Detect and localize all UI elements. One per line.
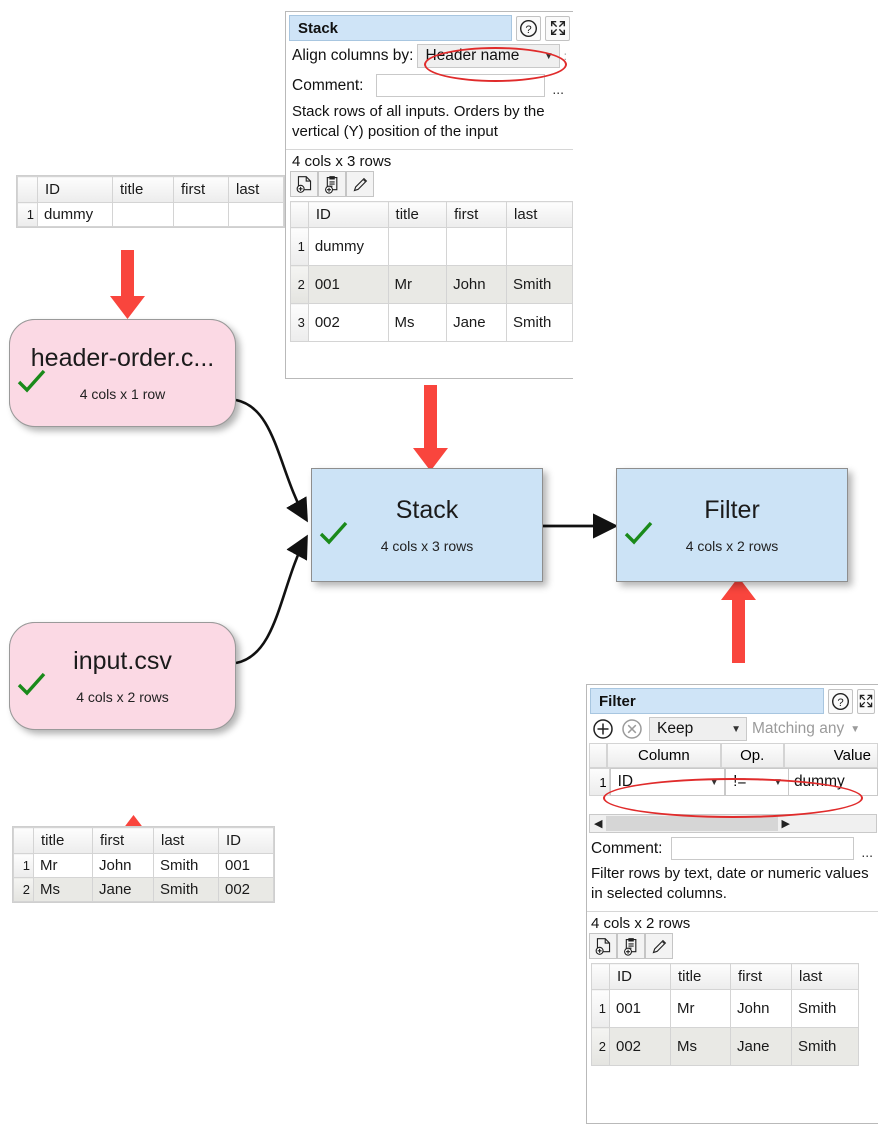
node-header-order-csv[interactable]: header-order.c... 4 cols x 1 row <box>9 319 236 427</box>
node-title: header-order.c... <box>31 346 214 371</box>
rules-empty-area <box>589 796 878 812</box>
col-header-1[interactable]: title <box>388 202 447 228</box>
panel-title: Filter <box>590 688 824 714</box>
filter-mode-select[interactable]: Keep ▼ <box>649 717 747 741</box>
filter-toolbar-icons <box>587 933 878 963</box>
status-ok-icon <box>17 369 47 395</box>
rule-op-value: != <box>733 773 746 791</box>
col-header-3[interactable]: ID <box>219 828 274 854</box>
panel-header: Filter ? <box>587 685 878 715</box>
comment-input[interactable] <box>671 837 855 860</box>
node-subtitle: 4 cols x 3 rows <box>381 539 474 553</box>
col-header-1[interactable]: first <box>93 828 154 854</box>
preview-table-header-order: ID title first last 1 dummy <box>17 176 284 227</box>
cell[interactable]: Smith <box>792 990 859 1028</box>
rules-col-header-column[interactable]: Column <box>607 743 720 768</box>
col-header-2[interactable]: first <box>174 177 229 203</box>
scroll-right-arrow-icon[interactable]: ▶ <box>778 817 792 830</box>
col-header-1[interactable]: title <box>113 177 174 203</box>
stack-preview-table: ID title first last 1 dummy 2 001 <box>290 201 573 342</box>
comment-label: Comment: <box>292 77 364 95</box>
rule-row-number: 1 <box>589 768 610 796</box>
rule-value-input[interactable]: dummy <box>789 768 878 796</box>
status-ok-icon <box>624 521 654 547</box>
filter-row-count: 4 cols x 2 rows <box>587 912 878 933</box>
status-ok-icon <box>17 672 47 698</box>
new-file-icon[interactable] <box>589 933 617 959</box>
cell[interactable]: Smith <box>154 854 219 878</box>
align-columns-label: Align columns by: <box>292 47 413 65</box>
help-icon[interactable]: ? <box>516 16 541 41</box>
cell[interactable] <box>447 228 507 266</box>
cell[interactable]: Mr <box>388 266 447 304</box>
rule-op-select[interactable]: != ▼ <box>725 768 789 796</box>
filter-toolbar: Keep ▼ Matching any ▼ <box>587 715 878 743</box>
table-row[interactable]: 1 dummy <box>291 228 573 266</box>
corner-cell <box>592 964 610 990</box>
copy-to-clipboard-icon[interactable] <box>318 171 346 197</box>
cell[interactable]: John <box>447 266 507 304</box>
row-number: 2 <box>291 266 309 304</box>
add-rule-icon[interactable] <box>591 717 615 741</box>
cell[interactable] <box>388 228 447 266</box>
corner-cell <box>18 177 38 203</box>
rule-column-select[interactable]: ID ▼ <box>610 768 726 796</box>
corner-cell <box>291 202 309 228</box>
col-header-1[interactable]: title <box>671 964 731 990</box>
cell[interactable]: Mr <box>34 854 93 878</box>
cell[interactable]: Mr <box>671 990 731 1028</box>
expand-arrows-icon[interactable] <box>857 689 875 714</box>
cell[interactable]: 001 <box>610 990 671 1028</box>
expand-arrows-icon[interactable] <box>545 16 570 41</box>
stack-properties-panel: Stack ? Align columns by: Header name <box>285 11 573 379</box>
cell[interactable]: Smith <box>507 266 573 304</box>
new-file-icon[interactable] <box>290 171 318 197</box>
table-header-row: ID title first last <box>291 202 573 228</box>
row-number: 1 <box>18 203 38 227</box>
cell[interactable]: John <box>93 854 154 878</box>
table-header-row: ID title first last <box>18 177 284 203</box>
status-ok-icon <box>319 521 349 547</box>
table-row[interactable]: 3 002 Ms Jane Smith <box>291 304 573 342</box>
col-header-0[interactable]: title <box>34 828 93 854</box>
comment-row: Comment: ... <box>587 837 878 862</box>
comment-input[interactable] <box>376 74 546 97</box>
cell[interactable] <box>229 203 284 227</box>
node-title: Stack <box>396 498 459 523</box>
cell[interactable]: dummy <box>308 228 388 266</box>
chevron-down-icon: ▼ <box>731 724 741 735</box>
table-row[interactable]: 1 Mr John Smith 001 <box>14 854 274 878</box>
rules-header-row: Column Op. Value <box>589 743 878 768</box>
comment-more-button[interactable]: ... <box>549 81 567 97</box>
chevron-down-icon: ▼ <box>850 724 860 735</box>
scrollbar-thumb[interactable] <box>606 816 778 831</box>
svg-text:?: ? <box>837 696 843 708</box>
edit-pencil-icon[interactable] <box>645 933 673 959</box>
node-filter[interactable]: Filter 4 cols x 2 rows <box>616 468 848 582</box>
copy-to-clipboard-icon[interactable] <box>617 933 645 959</box>
node-stack[interactable]: Stack 4 cols x 3 rows <box>311 468 543 582</box>
help-icon[interactable]: ? <box>828 689 853 714</box>
panel-title: Stack <box>289 15 512 41</box>
remove-rule-icon[interactable] <box>620 717 644 741</box>
filter-match-value: Matching any <box>752 720 844 738</box>
cell[interactable]: Ms <box>388 304 447 342</box>
col-header-2[interactable]: first <box>447 202 507 228</box>
stack-toolbar <box>286 171 573 201</box>
rule-row[interactable]: 1 ID ▼ != ▼ dummy <box>589 768 878 796</box>
table-row[interactable]: 2 002 Ms Jane Smith <box>592 1028 859 1066</box>
filter-rules-grid: Column Op. Value 1 ID ▼ != ▼ dummy <box>587 743 878 812</box>
rules-col-header-op[interactable]: Op. <box>721 743 784 768</box>
cell[interactable]: Jane <box>93 878 154 902</box>
cell[interactable]: dummy <box>38 203 113 227</box>
cell[interactable]: 002 <box>610 1028 671 1066</box>
node-subtitle: 4 cols x 2 rows <box>76 690 169 704</box>
cell[interactable]: Ms <box>34 878 93 902</box>
comment-more-button[interactable]: ... <box>858 844 876 860</box>
row-number: 2 <box>14 878 34 902</box>
panel-edge: : <box>564 49 567 63</box>
table-input-csv: title first last ID 1 Mr John Smith 001 … <box>13 827 274 902</box>
cell[interactable]: Jane <box>447 304 507 342</box>
table-row[interactable]: 2 Ms Jane Smith 002 <box>14 878 274 902</box>
cell[interactable]: John <box>731 990 792 1028</box>
table-row[interactable]: 2 001 Mr John Smith <box>291 266 573 304</box>
col-header-0[interactable]: ID <box>38 177 113 203</box>
col-header-2[interactable]: last <box>154 828 219 854</box>
comment-row: Comment: ... <box>286 71 573 100</box>
col-header-3[interactable]: last <box>507 202 573 228</box>
align-columns-value: Header name <box>425 47 519 65</box>
table-header-row: title first last ID <box>14 828 274 854</box>
cell[interactable]: 001 <box>219 854 274 878</box>
col-header-0[interactable]: ID <box>308 202 388 228</box>
row-number: 2 <box>592 1028 610 1066</box>
node-title: Filter <box>704 498 760 523</box>
table-row[interactable]: 1 001 Mr John Smith <box>592 990 859 1028</box>
cell[interactable]: 001 <box>308 266 388 304</box>
col-header-2[interactable]: first <box>731 964 792 990</box>
align-columns-row: Align columns by: Header name ▼ : <box>286 42 573 71</box>
cell[interactable]: Ms <box>671 1028 731 1066</box>
filter-preview-table: ID title first last 1 001 Mr John Smith … <box>591 963 859 1066</box>
node-subtitle: 4 cols x 2 rows <box>686 539 779 553</box>
corner-cell <box>589 743 607 768</box>
filter-match-select[interactable]: Matching any ▼ <box>752 720 860 738</box>
rule-column-value: ID <box>618 773 634 791</box>
filter-mode-value: Keep <box>657 720 693 738</box>
cell[interactable]: Jane <box>731 1028 792 1066</box>
scroll-left-arrow-icon[interactable]: ◀ <box>590 817 606 830</box>
node-subtitle: 4 cols x 1 row <box>80 387 166 401</box>
node-input-csv[interactable]: input.csv 4 cols x 2 rows <box>9 622 236 730</box>
table-header-row: ID title first last <box>592 964 859 990</box>
corner-cell <box>14 828 34 854</box>
cell[interactable] <box>113 203 174 227</box>
panel-header: Stack ? <box>286 12 573 42</box>
cell[interactable] <box>507 228 573 266</box>
svg-text:?: ? <box>525 23 531 35</box>
cell[interactable] <box>174 203 229 227</box>
edit-pencil-icon[interactable] <box>346 171 374 197</box>
chevron-down-icon: ▼ <box>709 777 719 788</box>
rules-horizontal-scrollbar[interactable]: ◀ ▶ <box>589 814 877 833</box>
comment-label: Comment: <box>591 840 663 858</box>
col-header-0[interactable]: ID <box>610 964 671 990</box>
row-number: 1 <box>291 228 309 266</box>
col-header-3[interactable]: last <box>792 964 859 990</box>
node-title: input.csv <box>73 649 172 674</box>
cell[interactable]: Smith <box>507 304 573 342</box>
filter-properties-panel: Filter ? <box>586 684 878 1124</box>
canvas: ID title first last 1 dummy <box>0 0 878 1124</box>
rule-value-text: dummy <box>794 773 845 791</box>
col-header-3[interactable]: last <box>229 177 284 203</box>
chevron-down-icon: ▼ <box>773 777 783 788</box>
cell[interactable]: Smith <box>792 1028 859 1066</box>
chevron-down-icon: ▼ <box>544 51 554 62</box>
cell[interactable]: 002 <box>219 878 274 902</box>
rules-col-header-value[interactable]: Value <box>784 743 878 768</box>
row-number: 1 <box>14 854 34 878</box>
row-number: 3 <box>291 304 309 342</box>
stack-row-count: 4 cols x 3 rows <box>286 150 573 171</box>
row-number: 1 <box>592 990 610 1028</box>
filter-description: Filter rows by text, date or numeric val… <box>587 862 878 908</box>
table-row[interactable]: 1 dummy <box>18 203 284 227</box>
stack-description: Stack rows of all inputs. Orders by the … <box>286 100 573 146</box>
align-columns-select[interactable]: Header name ▼ <box>417 44 559 68</box>
cell[interactable]: Smith <box>154 878 219 902</box>
table-header-order: ID title first last 1 dummy <box>17 176 284 227</box>
preview-table-input-csv: title first last ID 1 Mr John Smith 001 … <box>13 827 274 902</box>
cell[interactable]: 002 <box>308 304 388 342</box>
